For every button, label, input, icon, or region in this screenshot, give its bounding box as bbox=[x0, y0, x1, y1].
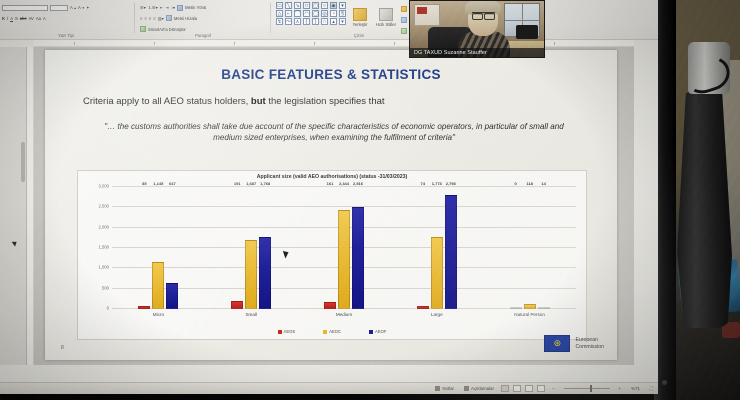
convert-to-smartart-icon[interactable] bbox=[140, 26, 146, 32]
water-bottle bbox=[676, 88, 732, 328]
shape-gallery-down-icon[interactable]: ▾ bbox=[339, 18, 346, 25]
powerpoint-ribbon[interactable]: A▴ A▾ ✦ K İ A S abc AV Aa A Yazı Tipi bbox=[0, 0, 658, 40]
align-center-icon[interactable]: ≡ bbox=[144, 16, 146, 21]
chart-y-tick-label: 2,500 bbox=[99, 204, 109, 209]
quick-styles-button[interactable]: Hızlı Stiller bbox=[373, 1, 399, 33]
chart-y-tick-label: 0 bbox=[107, 306, 109, 311]
align-left-icon[interactable]: ≡ bbox=[140, 16, 142, 21]
monitor-screen: A▴ A▾ ✦ K İ A S abc AV Aa A Yazı Tipi bbox=[0, 0, 658, 394]
chart-bar-aeof[interactable]: 647 bbox=[166, 283, 178, 309]
increase-font-size-icon[interactable]: A▴ bbox=[70, 5, 76, 10]
chart-category-label: Small bbox=[205, 312, 298, 317]
strikethrough-icon[interactable]: abc bbox=[20, 16, 27, 21]
arrange-icon bbox=[353, 8, 367, 21]
webcam-poster-accent bbox=[417, 7, 427, 14]
pane-cursor-icon bbox=[12, 239, 19, 246]
shape-ring-icon[interactable]: ◎ bbox=[321, 10, 328, 17]
shape-line-icon[interactable]: ╲ bbox=[285, 2, 292, 9]
clear-formatting-icon[interactable]: ✦ bbox=[86, 5, 90, 10]
chart-bar-wrapper: 1,773 bbox=[431, 187, 443, 309]
shape-more-icon[interactable]: ▾ bbox=[339, 2, 346, 9]
align-text-icon[interactable] bbox=[166, 15, 172, 21]
decrease-indent-icon[interactable]: ⇤ bbox=[160, 5, 164, 10]
chart-legend[interactable]: AEOSAEOCAEOF bbox=[78, 329, 586, 334]
notes-icon bbox=[435, 386, 440, 391]
chart-bar-aeoc[interactable]: 118 bbox=[524, 304, 536, 309]
shape-bracket-icon[interactable]: ⌐ bbox=[285, 10, 292, 17]
font-name-box[interactable] bbox=[2, 5, 48, 11]
chart-bar-aeoc[interactable]: 2,444 bbox=[338, 210, 350, 309]
numbering-icon[interactable]: ⒈☰▾ bbox=[148, 5, 158, 11]
chart-bar-aeof[interactable]: 1,768 bbox=[259, 237, 271, 309]
chart-bar-aeoc[interactable]: 1,687 bbox=[245, 240, 257, 309]
shape-rounded-rect-icon[interactable]: ▢ bbox=[312, 2, 319, 9]
chart-bar-group: 1612,4442,516Medium bbox=[298, 187, 391, 309]
chart-legend-swatch bbox=[323, 330, 327, 334]
chart-bar-aeos[interactable]: 85 bbox=[138, 306, 150, 309]
applicant-size-chart[interactable]: Applicant size (valid AEO authorisations… bbox=[77, 170, 587, 340]
chart-bar-wrapper: 2,516 bbox=[352, 187, 364, 309]
ribbon-group-font-caption: Yazı Tipi bbox=[0, 33, 132, 38]
view-normal-button[interactable] bbox=[501, 385, 509, 392]
shape-scroll-icon[interactable]: § bbox=[339, 10, 346, 17]
character-spacing-icon[interactable]: AV bbox=[29, 16, 34, 21]
webcam-overlay[interactable]: DG TAXUD Suzanne Stauffer bbox=[409, 0, 545, 58]
webcam-poster bbox=[414, 4, 440, 26]
bullets-icon[interactable]: ☰▾ bbox=[140, 5, 146, 10]
shape-arrow-icon[interactable]: ↘ bbox=[294, 2, 301, 9]
chart-bar-value-label: 0 bbox=[514, 181, 516, 186]
photo-of-monitor-scene: A▴ A▾ ✦ K İ A S abc AV Aa A Yazı Tipi bbox=[0, 0, 740, 400]
chart-bar-value-label: 1,773 bbox=[432, 181, 442, 186]
chart-bar-aeos[interactable]: 191 bbox=[231, 301, 243, 309]
shape-star-icon[interactable]: ☆ bbox=[321, 18, 328, 25]
zoom-slider[interactable] bbox=[564, 388, 610, 389]
columns-icon[interactable]: ▥▾ bbox=[158, 16, 164, 21]
chart-legend-item[interactable]: AEOF bbox=[369, 329, 386, 334]
quick-styles-label: Hızlı Stiller bbox=[376, 22, 396, 27]
text-direction-icon[interactable] bbox=[177, 5, 183, 11]
ribbon-group-paragraph-caption: Paragraf bbox=[138, 33, 268, 38]
chart-bar-aeof[interactable]: 2,516 bbox=[352, 207, 364, 309]
webcam-monitor bbox=[516, 25, 538, 39]
eu-flag-icon: ⊛ bbox=[544, 335, 570, 352]
fit-slide-button[interactable]: ⛶ bbox=[645, 386, 658, 391]
chart-bar-value-label: 2,516 bbox=[353, 181, 363, 186]
slide-number: 8 bbox=[61, 345, 64, 351]
notes-label: Notlar bbox=[442, 386, 454, 391]
chart-y-tick-label: 2,000 bbox=[99, 224, 109, 229]
chart-bar-wrapper: 118 bbox=[524, 187, 536, 309]
chart-bar-value-label: 1,768 bbox=[260, 181, 270, 186]
quick-styles-icon bbox=[379, 8, 393, 21]
chart-category-label: Natural Person bbox=[483, 312, 576, 317]
chart-bar-value-label: 74 bbox=[421, 181, 425, 186]
chart-y-tick-label: 1,000 bbox=[99, 265, 109, 270]
shape-outline-icon[interactable] bbox=[401, 17, 407, 23]
chart-bar-value-label: 2,444 bbox=[339, 181, 349, 186]
shape-brace-left-icon[interactable]: { bbox=[303, 18, 310, 25]
comments-button[interactable]: Açıklamalar bbox=[459, 386, 499, 391]
chart-bar-wrapper: 647 bbox=[166, 187, 178, 309]
chart-bar-aeos[interactable]: 0 bbox=[510, 307, 522, 309]
chart-bar-group: 1911,6871,768Small bbox=[205, 187, 298, 309]
chart-bar-wrapper: 74 bbox=[417, 187, 429, 309]
chart-bar-group: 011814Natural Person bbox=[483, 187, 576, 309]
chart-legend-label: AEOS bbox=[284, 329, 296, 334]
zoom-slider-knob[interactable] bbox=[590, 385, 592, 392]
chart-bar-group: 741,7732,793Large bbox=[390, 187, 483, 309]
shape-triangle-icon[interactable]: △ bbox=[276, 10, 283, 17]
european-commission-logo: ⊛ European Commission bbox=[544, 335, 604, 352]
chart-bar-wrapper: 191 bbox=[231, 187, 243, 309]
chart-bar-value-label: 118 bbox=[526, 181, 532, 186]
chart-bar-value-label: 161 bbox=[327, 181, 334, 186]
slide-canvas[interactable]: BASIC FEATURES & STATISTICS Criteria app… bbox=[45, 50, 617, 360]
comments-label: Açıklamalar bbox=[471, 386, 494, 391]
chart-bar-value-label: 1,687 bbox=[246, 181, 256, 186]
decrease-font-size-icon[interactable]: A▾ bbox=[78, 5, 84, 10]
underline-icon[interactable]: A bbox=[10, 16, 13, 21]
shape-brace-right-icon[interactable]: } bbox=[312, 18, 319, 25]
chart-bar-value-label: 1,145 bbox=[153, 181, 163, 186]
slide-editing-area[interactable]: BASIC FEATURES & STATISTICS Criteria app… bbox=[34, 47, 634, 365]
shape-teardrop-icon[interactable]: ◠ bbox=[303, 10, 310, 17]
view-slideshow-button[interactable] bbox=[537, 385, 545, 392]
slide-thumbnail-pane[interactable] bbox=[0, 47, 27, 365]
chart-title: Applicant size (valid AEO authorisations… bbox=[78, 174, 586, 180]
increase-indent-icon[interactable]: ⇥ bbox=[165, 5, 169, 10]
webcam-person-glasses bbox=[472, 12, 495, 17]
shape-scribble-icon[interactable]: 〜 bbox=[285, 18, 292, 25]
chart-y-tick-label: 3,000 bbox=[99, 184, 109, 189]
chart-bar-value-label: 191 bbox=[234, 181, 241, 186]
chart-bar-aeoc[interactable]: 1,773 bbox=[431, 237, 443, 309]
chart-legend-item[interactable]: AEOS bbox=[278, 329, 296, 334]
chart-bar-wrapper: 2,444 bbox=[338, 187, 350, 309]
shape-rectangle-icon[interactable]: ▭ bbox=[276, 2, 283, 9]
chart-y-tick-label: 1,500 bbox=[99, 245, 109, 250]
comment-bubble-icon bbox=[464, 386, 469, 391]
chart-category-label: Medium bbox=[298, 312, 391, 317]
chart-bar-wrapper: 85 bbox=[138, 187, 150, 309]
chart-bar-value-label: 14 bbox=[541, 181, 545, 186]
justify-icon[interactable]: ≡ bbox=[153, 16, 155, 21]
text-direction-label[interactable]: Metin Yönü bbox=[185, 5, 206, 10]
chart-bar-value-label: 85 bbox=[142, 181, 146, 186]
bold-icon[interactable]: K bbox=[2, 16, 5, 21]
shape-curve-icon[interactable]: ⌒ bbox=[294, 10, 301, 17]
eu-logo-text: European Commission bbox=[575, 337, 604, 350]
shape-circle-icon[interactable]: ◯ bbox=[312, 10, 319, 17]
chart-bar-aeof[interactable]: 14 bbox=[538, 307, 550, 309]
chart-bar-wrapper: 14 bbox=[538, 187, 550, 309]
shape-fill-icon[interactable] bbox=[401, 6, 407, 12]
chart-bar-wrapper: 0 bbox=[510, 187, 522, 309]
chart-legend-swatch bbox=[369, 330, 373, 334]
chart-legend-label: AEOC bbox=[329, 329, 341, 334]
font-color-icon[interactable]: A bbox=[43, 16, 46, 21]
ribbon-divider-2 bbox=[270, 3, 271, 33]
chart-bar-wrapper: 2,793 bbox=[445, 187, 457, 309]
shape-gallery-up-icon[interactable]: ▴ bbox=[330, 18, 337, 25]
ribbon-group-paragraph[interactable]: ☰▾ ⒈☰▾ ⇤ ⇥ ↕▾ Metin Yönü ≡ ≡ ≡ ≡ ▥▾ Metn… bbox=[138, 1, 268, 39]
font-size-box[interactable] bbox=[50, 5, 68, 11]
align-right-icon[interactable]: ≡ bbox=[149, 16, 151, 21]
shape-freeform-icon[interactable]: ↯ bbox=[276, 18, 283, 25]
shape-angle-icon[interactable]: ∧ bbox=[294, 18, 301, 25]
chart-bar-wrapper: 1,687 bbox=[245, 187, 257, 309]
chart-legend-swatch bbox=[278, 330, 282, 334]
chart-legend-label: AEOF bbox=[375, 329, 386, 334]
powerpoint-status-bar[interactable]: Notlar Açıklamalar − + %71 ⛶ bbox=[0, 382, 658, 394]
shape-box-icon[interactable]: ▣ bbox=[330, 2, 337, 9]
slide-subtitle-post: the legislation specifies that bbox=[266, 96, 385, 107]
chart-bar-value-label: 647 bbox=[169, 181, 176, 186]
change-case-icon[interactable]: Aa bbox=[36, 16, 41, 21]
webcam-participant-name: DG TAXUD Suzanne Stauffer bbox=[410, 48, 544, 57]
thumbnail-scrollbar[interactable] bbox=[21, 142, 25, 182]
chart-y-tick-label: 500 bbox=[102, 285, 109, 290]
ribbon-group-font[interactable]: A▴ A▾ ✦ K İ A S abc AV Aa A Yazı Tipi bbox=[0, 1, 132, 39]
eu-logo-line2: Commission bbox=[575, 344, 604, 351]
notes-button[interactable]: Notlar bbox=[430, 386, 459, 391]
arrange-label: Yerleştir bbox=[353, 22, 368, 27]
slide-title: BASIC FEATURES & STATISTICS bbox=[45, 67, 617, 82]
chart-plot-area: 05001,0001,5002,0002,5003,000851,145647M… bbox=[112, 187, 576, 309]
chart-bar-wrapper: 161 bbox=[324, 187, 336, 309]
chart-bar-aeos[interactable]: 74 bbox=[417, 306, 429, 309]
shape-pie-icon[interactable]: ◔ bbox=[330, 10, 337, 17]
chart-legend-item[interactable]: AEOC bbox=[323, 329, 341, 334]
line-spacing-icon[interactable]: ↕▾ bbox=[171, 5, 175, 10]
shape-square-icon[interactable]: □ bbox=[303, 2, 310, 9]
slide-subtitle: Criteria apply to all AEO status holders… bbox=[83, 96, 583, 107]
zoom-level-label[interactable]: %71 bbox=[626, 386, 645, 391]
ribbon-divider-1 bbox=[134, 3, 135, 33]
align-text-label[interactable]: Metni Hizala bbox=[174, 16, 197, 21]
chart-bar-value-label: 2,793 bbox=[446, 181, 456, 186]
monitor-power-led bbox=[662, 380, 667, 385]
chart-bar-wrapper: 1,768 bbox=[259, 187, 271, 309]
slide-quote: "… the customs authorities shall take du… bbox=[91, 122, 577, 144]
view-reading-button[interactable] bbox=[525, 385, 533, 392]
chart-bar-aeos[interactable]: 161 bbox=[324, 302, 336, 309]
vertical-ruler[interactable] bbox=[27, 47, 34, 365]
text-shadow-icon[interactable]: S bbox=[15, 16, 18, 21]
chart-category-label: Large bbox=[390, 312, 483, 317]
view-slide-sorter-button[interactable] bbox=[513, 385, 521, 392]
slide-subtitle-bold: but bbox=[251, 96, 266, 107]
chart-category-label: Micro bbox=[112, 312, 205, 317]
arrange-button[interactable]: Yerleştir bbox=[347, 1, 373, 33]
shape-oval-icon[interactable]: ○ bbox=[321, 2, 328, 9]
slide-subtitle-pre: Criteria apply to all AEO status holders… bbox=[83, 96, 251, 107]
chart-bar-aeof[interactable]: 2,793 bbox=[445, 195, 457, 309]
chart-bar-aeoc[interactable]: 1,145 bbox=[152, 262, 164, 309]
italic-icon[interactable]: İ bbox=[7, 16, 8, 21]
shapes-gallery[interactable]: ▭ ╲ ↘ □ ▢ ○ ▣ ▾ △ ⌐ ⌒ ◠ ◯ ◎ ◔ bbox=[274, 1, 347, 25]
convert-to-smartart-label[interactable]: SmartArt'a Dönüştür bbox=[148, 27, 186, 32]
chart-bar-group: 851,145647Micro bbox=[112, 187, 205, 309]
eu-stars-icon: ⊛ bbox=[545, 336, 569, 351]
zoom-in-button[interactable]: + bbox=[614, 386, 627, 391]
chart-bar-wrapper: 1,145 bbox=[152, 187, 164, 309]
zoom-out-button[interactable]: − bbox=[547, 386, 560, 391]
